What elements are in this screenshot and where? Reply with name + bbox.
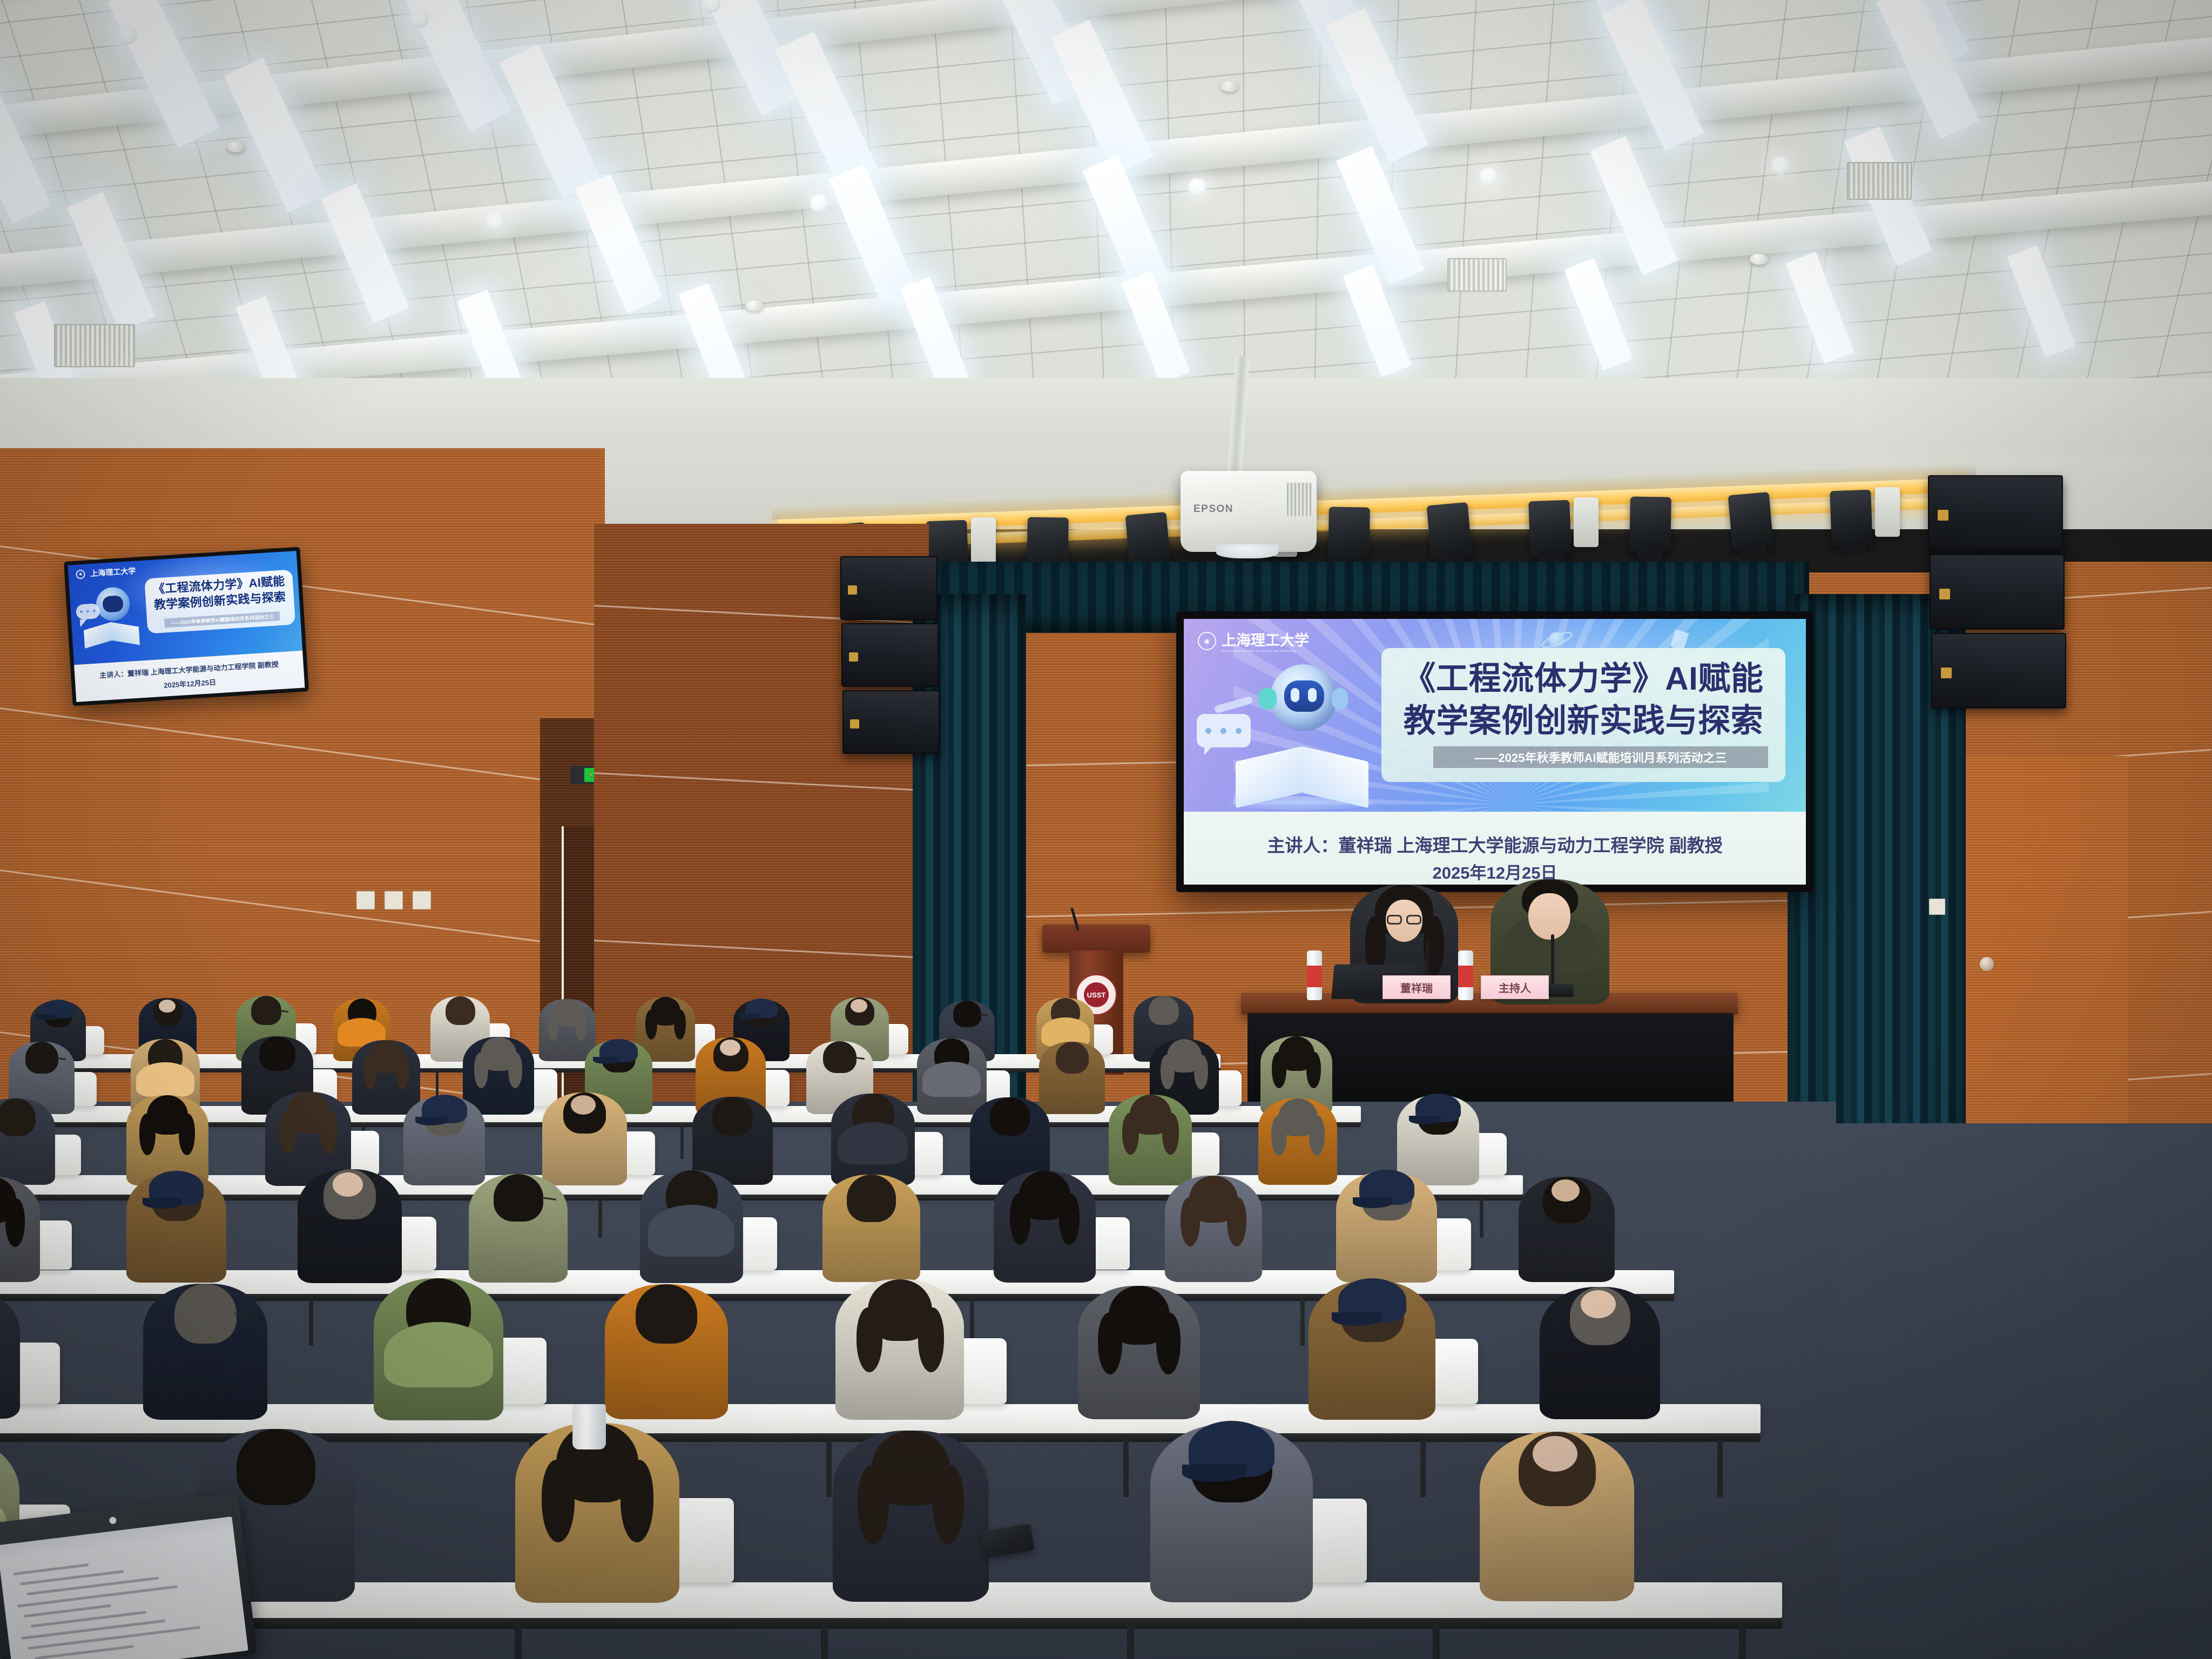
projector-brand-label: EPSON (1193, 503, 1233, 515)
audience-member (0, 1177, 40, 1282)
ceiling-air-vent (1847, 162, 1912, 200)
lcd-logo-mark: ◉ (76, 569, 85, 579)
audience-member (1109, 1095, 1192, 1185)
audience-member (469, 1174, 568, 1283)
audience-member (1258, 1098, 1337, 1185)
audience-member (822, 1175, 920, 1282)
smoke-detector (1750, 254, 1768, 265)
ponytail (5, 1198, 25, 1247)
foreground-laptop[interactable] (0, 1493, 258, 1659)
audience-member (1150, 1424, 1313, 1602)
line-array-speaker-right (1928, 475, 2068, 713)
audience-member (1519, 1177, 1615, 1282)
desk-leg (1123, 1437, 1129, 1497)
cap-brim (1353, 1197, 1392, 1208)
cap-brim (1409, 1116, 1441, 1124)
desk-leg (1480, 1198, 1483, 1238)
desk-leg (1127, 1621, 1134, 1659)
audience-hair (712, 1097, 753, 1136)
ponytail (542, 1460, 575, 1542)
bald-spot (720, 1040, 740, 1056)
desk-leg (1739, 1621, 1746, 1659)
cap-brim (593, 1057, 619, 1064)
ceiling-grid-line-v (1314, 0, 1324, 410)
stage-light (1629, 497, 1671, 554)
ceiling-grid-line-v (1242, 0, 1245, 410)
stage-light (1328, 507, 1370, 563)
lcd-logo-text: 上海理工大学 (90, 565, 136, 579)
audience-member (515, 1423, 679, 1603)
audience-member (640, 1170, 743, 1283)
ceiling-downlight (119, 26, 137, 44)
cap-brim (739, 1014, 761, 1020)
chat-bubble-decoration (1197, 714, 1251, 747)
projector-vent (1287, 483, 1312, 516)
ponytail (1227, 1197, 1246, 1246)
audience-hair (446, 996, 475, 1025)
ceiling-downlight (1480, 167, 1498, 186)
stage-light-housing (971, 517, 996, 567)
audience-member (0, 1098, 55, 1185)
lcd-chat-bubble (76, 603, 100, 620)
lcd-subtitle-banner: ——2025年秋季教师AI赋能培训月系列活动之三 (164, 611, 280, 628)
audience-member (831, 1094, 915, 1185)
nameplate-speaker: 董祥瑞 (1382, 975, 1451, 999)
audience-hair (1149, 996, 1179, 1025)
ponytail (363, 1055, 377, 1089)
lcd-subtitle-text: ——2025年秋季教师AI赋能培训月系列活动之三 (171, 613, 274, 626)
ponytail (548, 1011, 559, 1040)
cap-brim (1332, 1312, 1381, 1326)
ceiling-downlight (810, 194, 828, 213)
wall-mounted-lcd[interactable]: ◉ 上海理工大学 《工程流体力学》AI赋能 (64, 547, 309, 706)
lcd-logo: ◉ 上海理工大学 (76, 565, 136, 580)
desk-leg (1717, 1437, 1723, 1497)
ponytail (1156, 1313, 1181, 1374)
ceiling-air-vent (54, 324, 135, 367)
bald-spot (333, 1172, 363, 1197)
ponytail (933, 1465, 964, 1544)
audience-member (1078, 1286, 1200, 1419)
ceiling (0, 0, 2212, 410)
winter-hood (922, 1062, 981, 1097)
usst-logo-text: 上海理工大学 (1222, 629, 1309, 650)
audience-hair (823, 1041, 857, 1073)
audience-member (542, 1092, 627, 1185)
stage-light (1427, 502, 1473, 562)
desk-leg (821, 1621, 828, 1659)
desk-leg (1420, 1437, 1426, 1497)
ponytail (1194, 1055, 1208, 1089)
lecture-hall-photo: EPSON 🚶 (0, 0, 2212, 1659)
bottle-label-right (1458, 966, 1473, 987)
lectern-top (1042, 925, 1150, 953)
wall-socket-3[interactable] (413, 891, 431, 909)
slide-content: ◉ 上海理工大学 University of Shanghai for Scie… (1184, 619, 1806, 885)
stage-light (1728, 492, 1774, 551)
ceiling-soffit (0, 378, 2212, 459)
water-bottle-right (1458, 950, 1473, 1000)
audience-member (835, 1279, 964, 1420)
bald-spot (571, 1095, 596, 1115)
ponytail (474, 1053, 488, 1088)
smoke-detector (227, 141, 245, 152)
slide-subtitle-banner: ——2025年秋季教师AI赋能培训月系列活动之三 (1433, 746, 1768, 768)
lcd-title-card: 《工程流体力学》AI赋能 教学案例创新实践与探索 ——2025年秋季教师AI赋能… (144, 569, 295, 633)
ponytail (858, 1465, 889, 1544)
slide-speaker-line: 主讲人：董祥瑞 上海理工大学能源与动力工程学院 副教授 (1184, 831, 1806, 857)
ceiling-air-vent (1447, 258, 1507, 292)
cap-brim (36, 1014, 58, 1020)
usst-logo-subtext: University of Shanghai for Science and T… (1222, 650, 1309, 653)
slide-logo: ◉ 上海理工大学 University of Shanghai for Scie… (1198, 629, 1309, 653)
slide-title-card: 《工程流体力学》AI赋能 教学案例创新实践与探索 ——2025年秋季教师AI赋能… (1381, 648, 1785, 782)
nameplate-host: 主持人 (1481, 975, 1549, 999)
cap-brim (143, 1198, 182, 1209)
audience-hair (636, 1284, 697, 1344)
audience-hair (237, 1429, 315, 1505)
audience-hair (1056, 1042, 1089, 1074)
desk-leg (1433, 1621, 1440, 1659)
audience-member (143, 1284, 267, 1420)
winter-hood (648, 1205, 734, 1257)
wall-socket-2[interactable] (385, 891, 403, 909)
ceiling-downlight (1188, 178, 1206, 197)
audience-hair (25, 1042, 58, 1074)
audience-hair (494, 1174, 543, 1222)
projection-screen[interactable]: ◉ 上海理工大学 University of Shanghai for Scie… (1176, 611, 1813, 892)
bottle-label-left (1307, 966, 1322, 987)
ponytail (1059, 1193, 1080, 1245)
winter-hood (838, 1122, 908, 1164)
bald-spot (1552, 1179, 1580, 1202)
ponytail (279, 1111, 296, 1154)
ponytail (674, 1010, 686, 1040)
ponytail (1098, 1313, 1122, 1374)
projector-lens (1216, 544, 1279, 558)
ponytail (508, 1053, 522, 1088)
audience-member (1309, 1280, 1435, 1420)
ponytail (621, 1460, 653, 1542)
audience-hair (0, 1098, 36, 1136)
stage-light (1528, 500, 1572, 557)
smoke-detector (1220, 81, 1239, 92)
bald-spot (851, 999, 867, 1013)
door-knob (1980, 957, 1994, 971)
water-bottle-left (1307, 950, 1322, 1000)
stage-light-housing (1574, 497, 1599, 547)
slide-title-line1: 《工程流体力学》AI赋能 (1381, 660, 1785, 698)
ponytail (179, 1114, 195, 1155)
audience-member (994, 1171, 1096, 1283)
audience-hair (953, 1001, 981, 1027)
line-array-speaker-left (840, 556, 943, 761)
slide-upper-panel: ◉ 上海理工大学 University of Shanghai for Scie… (1184, 619, 1806, 812)
desk-leg (309, 1297, 313, 1346)
ponytail (396, 1055, 409, 1089)
ponytail (1010, 1193, 1030, 1245)
desk-leg (598, 1198, 602, 1238)
bald-spot (1533, 1436, 1577, 1472)
ceiling-downlight (410, 10, 429, 28)
audience-member (126, 1173, 226, 1283)
audience-member (298, 1169, 402, 1283)
ponytail (575, 1011, 586, 1040)
audience-member (1336, 1172, 1437, 1283)
desk-leg (1300, 1297, 1305, 1346)
audience-member (605, 1284, 728, 1419)
desk-leg (680, 1125, 684, 1159)
slide-title-line2: 教学案例创新实践与探索 (1381, 702, 1785, 740)
desk-edge (0, 1618, 1782, 1629)
smoke-detector (745, 300, 764, 311)
bald-spot (159, 1000, 176, 1013)
lcd-slide-upper: ◉ 上海理工大学 《工程流体力学》AI赋能 (68, 551, 302, 665)
audience-member (833, 1431, 989, 1602)
audience-hair (259, 1036, 295, 1071)
wall-socket-1[interactable] (356, 891, 375, 909)
desk-leg (826, 1437, 832, 1497)
ponytail (139, 1114, 156, 1155)
ponytail (1161, 1055, 1175, 1089)
audience-hair (174, 1284, 237, 1344)
winter-hood (136, 1062, 194, 1097)
ponytail (857, 1307, 882, 1372)
audience-hair (847, 1175, 896, 1222)
ceiling-downlight (1771, 157, 1790, 175)
ceiling-projector: EPSON (1181, 471, 1317, 552)
ponytail (645, 1010, 657, 1040)
ponytail (1181, 1197, 1200, 1246)
audience-member (0, 1288, 20, 1419)
ponytail (1306, 1052, 1321, 1088)
ponytail (1272, 1052, 1286, 1088)
audience-member (1480, 1432, 1634, 1601)
desk-edge (0, 1195, 1523, 1201)
ponytail (918, 1307, 944, 1372)
ponytail (1122, 1113, 1139, 1155)
stage-light-housing (1875, 487, 1900, 537)
audience-member (403, 1096, 485, 1185)
audience-torso (0, 1288, 20, 1419)
paper-cup (572, 1404, 606, 1449)
cap-brim (1182, 1465, 1246, 1482)
desk-leg (515, 1621, 522, 1659)
stage-light (1830, 490, 1873, 548)
ceiling-downlight (486, 212, 504, 230)
ponytail (320, 1111, 338, 1154)
slide-subtitle-text: ——2025年秋季教师AI赋能培训月系列活动之三 (1475, 748, 1727, 766)
ceiling-grid-line-v (1453, 0, 1486, 410)
wall-socket-5[interactable] (1929, 899, 1945, 915)
usst-logo-mark: ◉ (1198, 632, 1216, 650)
winter-hood (384, 1322, 493, 1387)
audience-hair (251, 996, 281, 1025)
bald-spot (1581, 1290, 1616, 1318)
audience-hair (990, 1097, 1030, 1136)
ponytail (1162, 1113, 1179, 1155)
table-microphone-right (1551, 934, 1554, 989)
audience-member (374, 1278, 503, 1420)
audience-member (1540, 1287, 1660, 1419)
audience-member (1165, 1176, 1262, 1282)
slide-lower-panel: 主讲人：董祥瑞 上海理工大学能源与动力工程学院 副教授 2025年12月25日 (1184, 812, 1806, 885)
